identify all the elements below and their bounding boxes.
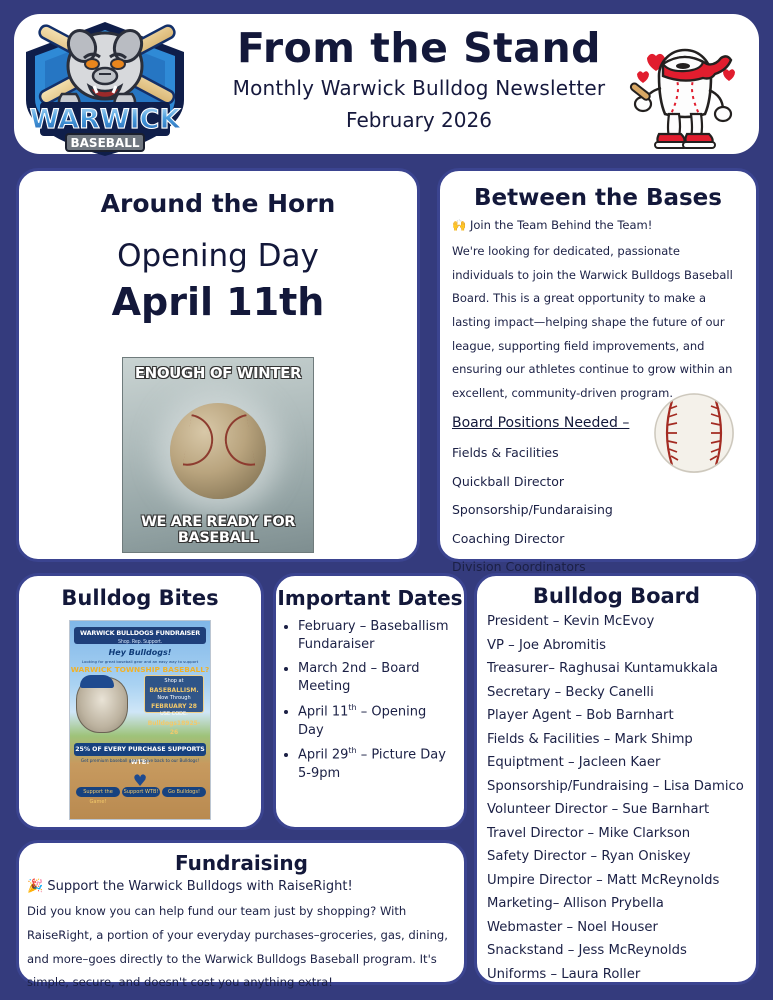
board-member: Equiptment – Jacleen Kaer: [487, 751, 756, 775]
logo-word-warwick: WARWICK: [30, 104, 182, 135]
flyer-percent-banner: 25% OF EVERY PURCHASE SUPPORTS WTB!: [74, 743, 206, 756]
flyer-pill-support-wtb: Support WTB!: [122, 787, 160, 797]
flyer-banner: WARWICK BULLDOGS FUNDRAISER Shop. Rep. S…: [74, 627, 206, 644]
bulldog-board-panel: Bulldog Board President – Kevin McEvoy V…: [474, 573, 759, 985]
date-item: April 29th – Picture Day 5-9pm: [298, 745, 454, 783]
fundraiser-flyer-image: WARWICK BULLDOGS FUNDRAISER Shop. Rep. S…: [69, 620, 211, 820]
position-item: Sponsorship/Fundaraising: [452, 496, 744, 525]
meme-bottom-text: WE ARE READY FOR BASEBALL: [123, 514, 313, 546]
board-member: VP – Joe Abromitis: [487, 634, 756, 658]
flyer-code-label: USE CODE:: [160, 711, 188, 717]
around-the-horn-panel: Around the Horn Opening Day April 11th E…: [16, 168, 420, 562]
board-member: Umpire Director – Matt McReynolds: [487, 869, 756, 893]
board-member: Travel Director – Mike Clarkson: [487, 822, 756, 846]
masthead-header: WARWICK BASEBALL From the Stand Monthly …: [14, 14, 759, 154]
flyer-bulldog-cap-icon: [80, 675, 114, 688]
flyer-pill-support-game: Support the Game!: [76, 787, 120, 797]
melting-baseball-mascot-icon: [625, 30, 745, 152]
bulldog-board-title: Bulldog Board: [477, 584, 756, 608]
board-member: Secretary – Becky Canelli: [487, 681, 756, 705]
between-the-bases-title: Between the Bases: [440, 185, 756, 211]
opening-day-date: April 11th: [19, 280, 417, 324]
bulldog-board-list: President – Kevin McEvoy VP – Joe Abromi…: [487, 610, 756, 986]
bulldog-bites-panel: Bulldog Bites WARWICK BULLDOGS FUNDRAISE…: [16, 573, 264, 830]
date-item: February – Baseballism Fundaraiser: [298, 618, 454, 655]
date-item-sup: th: [348, 746, 356, 755]
important-dates-title: Important Dates: [276, 586, 464, 610]
date-item: April 11th – Opening Day: [298, 702, 454, 740]
meme-top-text: ENOUGH OF WINTER: [123, 364, 313, 382]
flyer-note: Get premium baseball gear & give back to…: [70, 758, 210, 763]
between-the-bases-panel: Between the Bases 🙌 Join the Team Behind…: [437, 168, 759, 562]
flyer-code-box: Shop at BASEBALLISM. Now Through FEBRUAR…: [144, 675, 204, 713]
newsletter-title: From the Stand: [204, 26, 634, 72]
important-dates-panel: Important Dates February – Baseballism F…: [273, 573, 467, 830]
position-item: Fields & Facilities: [452, 439, 744, 468]
flyer-banner-sub: Shop. Rep. Support.: [74, 638, 206, 647]
board-member: President – Kevin McEvoy: [487, 610, 756, 634]
position-item: Quickball Director: [452, 468, 744, 497]
date-item: March 2nd – Board Meeting: [298, 660, 454, 697]
position-item: Division Coordinators: [452, 553, 744, 582]
flyer-brand: BASEBALLISM.: [145, 686, 203, 695]
fundraising-body-text: Did you know you can help fund our team …: [27, 900, 454, 995]
newsletter-subtitle: Monthly Warwick Bulldog Newsletter: [204, 76, 634, 100]
flyer-pill-go-bulldogs: Go Bulldogs!: [162, 787, 206, 797]
board-member: Uniforms – Laura Roller: [487, 963, 756, 987]
opening-day-label: Opening Day: [19, 238, 417, 274]
date-item-text: March 2nd – Board Meeting: [298, 661, 420, 694]
party-popper-icon: 🎉: [27, 879, 43, 894]
board-member: Treasurer– Raghusai Kuntamukkala: [487, 657, 756, 681]
flyer-banner-title: WARWICK BULLDOGS FUNDRAISER: [80, 629, 200, 637]
fundraising-title: Fundraising: [19, 851, 464, 875]
fundraising-lead-text: Support the Warwick Bulldogs with RaiseR…: [47, 879, 352, 894]
bases-body-text: We're looking for dedicated, passionate …: [452, 240, 744, 405]
fundraising-lead-line: 🎉 Support the Warwick Bulldogs with Rais…: [27, 879, 456, 894]
date-item-sup: th: [348, 703, 356, 712]
flyer-wtb-text: WARWICK TOWNSHIP BASEBALL?: [70, 665, 210, 674]
flyer-hey-text: Hey Bulldogs!: [70, 648, 210, 657]
fundraising-panel: Fundraising 🎉 Support the Warwick Bulldo…: [16, 840, 467, 985]
board-member: Fields & Facilities – Mark Shimp: [487, 728, 756, 752]
date-item-text: April 11: [298, 704, 348, 719]
board-member: Webmaster – Noel Houser: [487, 916, 756, 940]
bulldog-bites-title: Bulldog Bites: [19, 586, 261, 610]
board-member: Safety Director – Ryan Oniskey: [487, 845, 756, 869]
position-item: Coaching Director: [452, 525, 744, 554]
flyer-now-through: Now Through: [157, 695, 190, 701]
board-member: Snackstand – Jess McReynolds: [487, 939, 756, 963]
raising-hands-icon: 🙌: [452, 218, 466, 232]
flyer-shop-at: Shop at: [164, 678, 183, 684]
flyer-end-date: FEBRUARY 28: [145, 702, 203, 711]
important-dates-list: February – Baseballism Fundaraiser March…: [298, 618, 454, 783]
board-member: Marketing– Allison Prybella: [487, 892, 756, 916]
frozen-baseball-icon: [170, 403, 266, 499]
logo-word-baseball: BASEBALL: [71, 136, 140, 150]
board-positions-list: Fields & Facilities Quickball Director S…: [452, 439, 744, 582]
flyer-code: Bulldogs18925-26: [145, 719, 203, 737]
date-item-text: April 29: [298, 747, 348, 762]
board-member: Player Agent – Bob Barnhart: [487, 704, 756, 728]
date-item-text: February – Baseballism Fundaraiser: [298, 619, 449, 652]
masthead-text-block: From the Stand Monthly Warwick Bulldog N…: [204, 26, 634, 132]
bases-lead-line: 🙌 Join the Team Behind the Team!: [452, 217, 744, 234]
newsletter-date: February 2026: [204, 108, 634, 132]
bases-lead-text: Join the Team Behind the Team!: [470, 218, 652, 232]
newsletter-page: WARWICK BASEBALL From the Stand Monthly …: [0, 0, 773, 1000]
board-member: Sponsorship/Fundraising – Lisa Damico: [487, 775, 756, 799]
around-the-horn-title: Around the Horn: [19, 189, 417, 218]
enough-of-winter-meme: ENOUGH OF WINTER WE ARE READY FOR BASEBA…: [122, 357, 314, 553]
flyer-sub-text: Looking for great baseball gear and an e…: [70, 659, 210, 664]
board-member: Volunteer Director – Sue Barnhart: [487, 798, 756, 822]
warwick-baseball-logo: WARWICK BASEBALL: [14, 14, 196, 162]
